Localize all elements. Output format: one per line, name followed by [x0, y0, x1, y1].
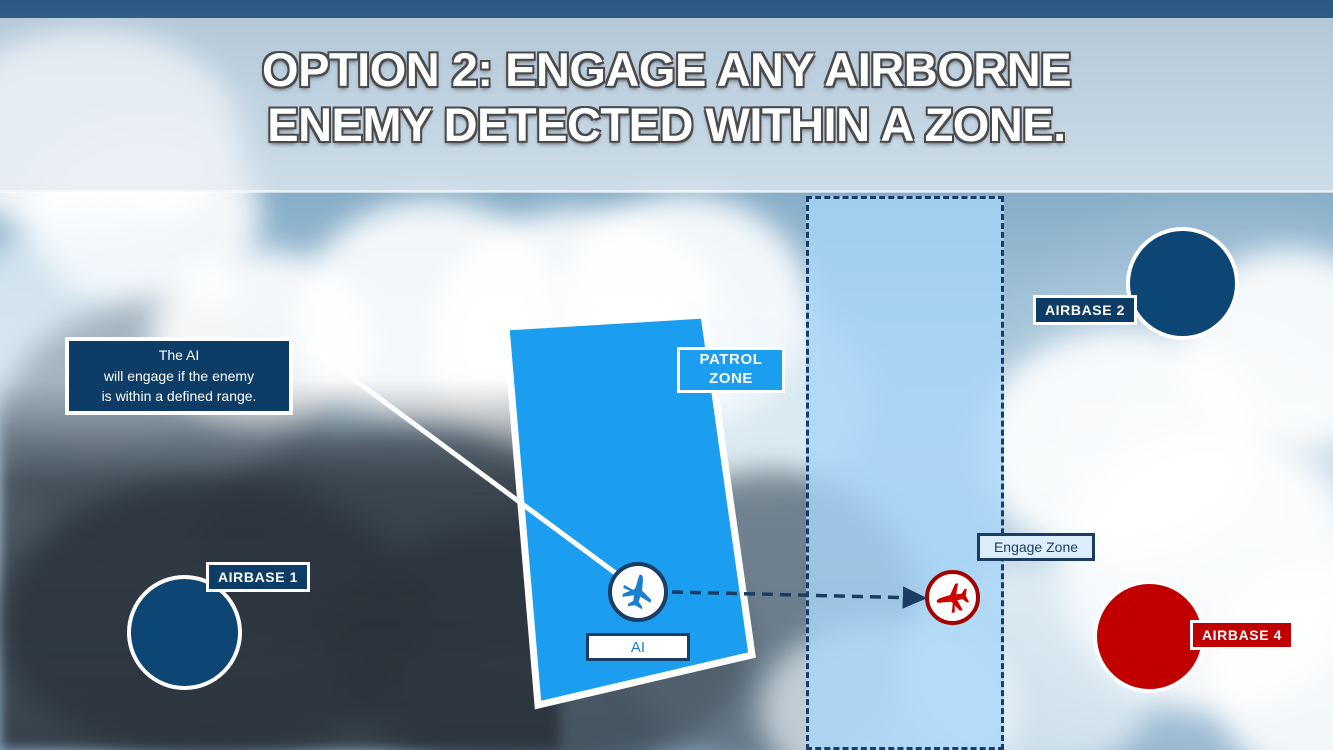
title-band-edge [0, 190, 1333, 193]
airbase-4-label[interactable]: AIRBASE 4 [1190, 620, 1294, 650]
slide-canvas: OPTION 2: ENGAGE ANY AIRBORNE ENEMY DETE… [0, 0, 1333, 750]
ai-aircraft-label[interactable]: AI [586, 633, 690, 661]
enemy-aircraft-marker[interactable] [925, 570, 980, 625]
fighter-jet-icon [934, 579, 972, 617]
engage-zone-region[interactable] [806, 196, 1004, 750]
ai-behaviour-callout: The AI will engage if the enemy is withi… [65, 337, 293, 415]
page-title: OPTION 2: ENGAGE ANY AIRBORNE ENEMY DETE… [0, 42, 1333, 153]
airbase-2-label[interactable]: AIRBASE 2 [1033, 295, 1137, 325]
patrol-zone-label[interactable]: PATROL ZONE [677, 347, 785, 393]
airbase-2-marker[interactable] [1126, 227, 1239, 340]
engage-zone-label[interactable]: Engage Zone [977, 533, 1095, 561]
fighter-jet-icon [618, 572, 658, 612]
top-accent-strip [0, 0, 1333, 18]
airbase-1-label[interactable]: AIRBASE 1 [206, 562, 310, 592]
airbase-1-marker[interactable] [127, 575, 242, 690]
ai-aircraft-marker[interactable] [608, 562, 668, 622]
